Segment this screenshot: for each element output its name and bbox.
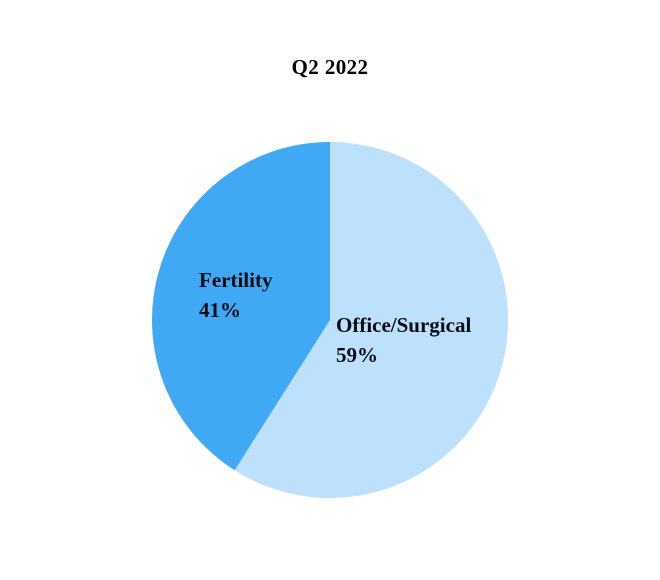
pie-label-fertility-percent: 41% xyxy=(199,296,272,326)
pie-label-fertility: Fertility 41% xyxy=(199,266,272,326)
pie-label-office-surgical-name: Office/Surgical xyxy=(336,313,471,337)
pie-label-office-surgical-percent: 59% xyxy=(336,341,471,371)
pie-label-fertility-name: Fertility xyxy=(199,268,272,292)
pie-chart: Q2 2022 Fertility 41% Office/Surgical 59… xyxy=(0,0,660,580)
pie-graphic xyxy=(0,0,660,580)
pie-label-office-surgical: Office/Surgical 59% xyxy=(336,311,471,371)
